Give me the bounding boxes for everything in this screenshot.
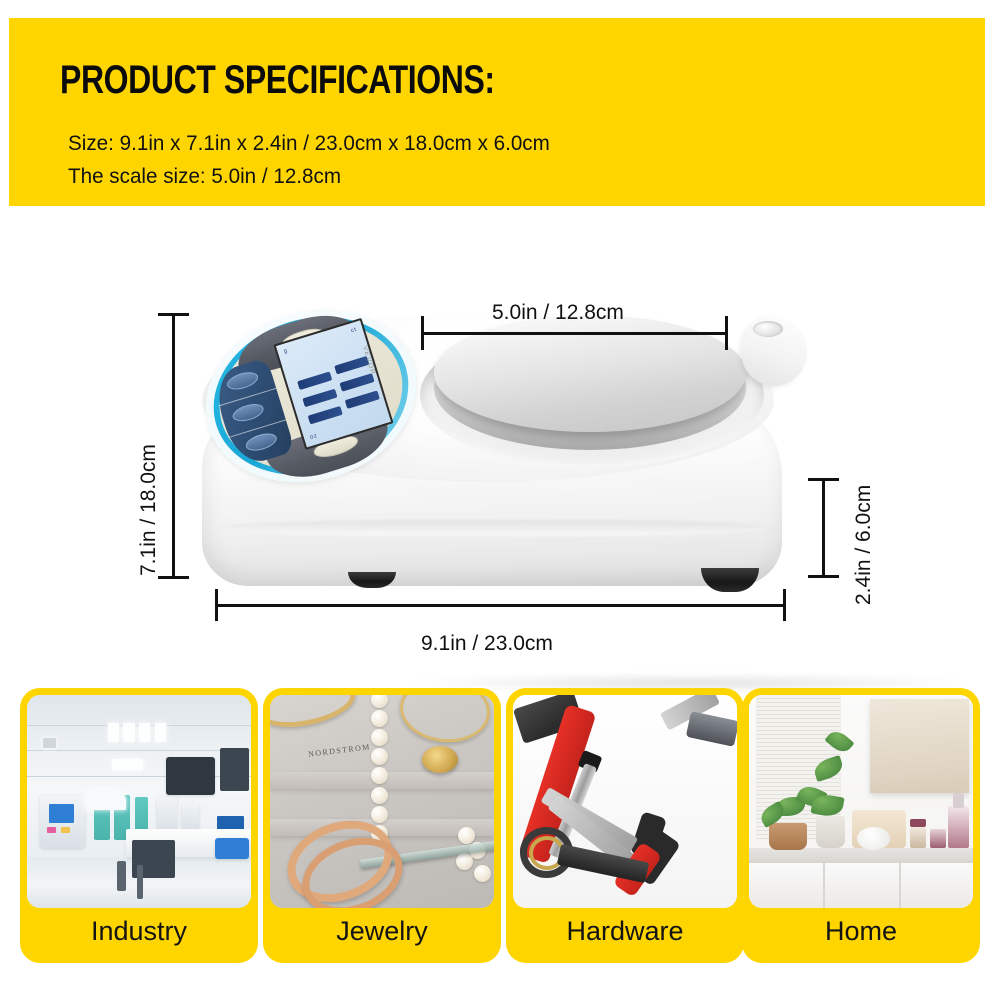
category-label-hardware: Hardware bbox=[506, 903, 744, 959]
lcd-indicator-right: ct bbox=[350, 327, 357, 334]
bubble-level-icon bbox=[753, 321, 783, 337]
dimension-label-pan: 5.0in / 12.8cm bbox=[492, 301, 624, 325]
digital-scale-image: g ct oz VEVOR bbox=[196, 296, 796, 596]
dimension-line bbox=[215, 604, 786, 607]
category-image-home bbox=[749, 695, 973, 908]
dimension-end-cap bbox=[158, 576, 189, 579]
category-label-industry: Industry bbox=[20, 903, 258, 959]
specifications-banner: PRODUCT SPECIFICATIONS: Size: 9.1in x 7.… bbox=[9, 18, 985, 206]
lcd-digit-segment bbox=[302, 389, 337, 408]
dimension-end-cap bbox=[421, 316, 424, 350]
category-card-industry[interactable]: Industry bbox=[20, 688, 258, 963]
category-card-home[interactable]: Home bbox=[742, 688, 980, 963]
category-label-home: Home bbox=[742, 903, 980, 959]
dimension-line bbox=[421, 332, 728, 335]
product-spec-page: PRODUCT SPECIFICATIONS: Size: 9.1in x 7.… bbox=[0, 0, 1000, 1000]
lcd-digit-segment bbox=[297, 371, 332, 390]
category-card-jewelry[interactable]: NORDSTROM bbox=[263, 688, 501, 963]
dimension-label-depth: 2.4in / 6.0cm bbox=[852, 485, 876, 605]
lcd-digit-segment bbox=[345, 390, 380, 409]
category-label-jewelry: Jewelry bbox=[263, 903, 501, 959]
category-image-jewelry: NORDSTROM bbox=[270, 695, 494, 908]
dimension-line bbox=[172, 313, 175, 579]
dimension-end-cap bbox=[783, 589, 786, 621]
category-card-hardware[interactable]: Hardware bbox=[506, 688, 744, 963]
spec-scale-size-line: The scale size: 5.0in / 12.8cm bbox=[68, 164, 341, 189]
product-photo-area: g ct oz VEVOR 5.0in / 12.8cm bbox=[0, 206, 1000, 676]
page-title: PRODUCT SPECIFICATIONS: bbox=[60, 58, 495, 103]
lcd-digit-segment bbox=[308, 406, 343, 425]
category-image-hardware bbox=[513, 695, 737, 908]
scale-body-seam bbox=[216, 520, 772, 536]
dimension-label-height: 7.1in / 18.0cm bbox=[137, 444, 161, 576]
dimension-label-width: 9.1in / 23.0cm bbox=[421, 632, 553, 656]
dimension-end-cap bbox=[725, 316, 728, 350]
lcd-indicator-left: g bbox=[283, 348, 288, 355]
lcd-indicator-bottom: oz bbox=[309, 433, 318, 441]
category-image-industry bbox=[27, 695, 251, 908]
spec-size-line: Size: 9.1in x 7.1in x 2.4in / 23.0cm x 1… bbox=[68, 131, 550, 156]
dimension-end-cap bbox=[808, 575, 839, 578]
dimension-end-cap bbox=[808, 478, 839, 481]
application-cards: Industry NORDSTROM bbox=[0, 688, 1000, 968]
dimension-end-cap bbox=[215, 589, 218, 621]
scale-foot-right bbox=[701, 568, 759, 592]
dimension-end-cap bbox=[158, 313, 189, 316]
dimension-line bbox=[822, 478, 825, 578]
